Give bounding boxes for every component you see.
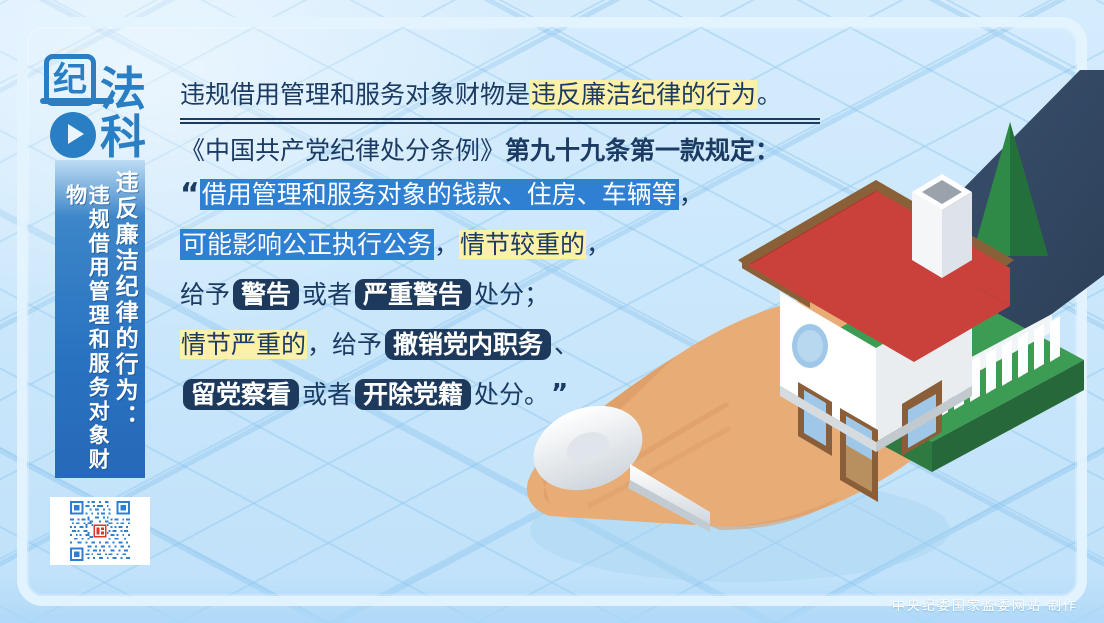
text-line-6: 情节严重的，给予撤销党内职务、 <box>180 329 880 360</box>
text-line-4: 可能影响公正执行公务，情节较重的， <box>180 229 880 260</box>
line4-highlight-blue: 可能影响公正执行公务 <box>180 229 434 260</box>
chimney <box>912 174 972 278</box>
sanction-pill-serious-warning: 严重警告 <box>355 279 471 310</box>
vertical-title-banner: 违反廉洁纪律的行为： 违规借用管理和服务对象财物 <box>55 160 145 478</box>
line2-rest: 第九十九条第一款规定： <box>505 138 780 163</box>
line1-plain-after: 。 <box>757 82 782 107</box>
text-line-3: “借用管理和服务对象的钱款、住房、车辆等， <box>180 179 880 210</box>
text-line-1: 违规借用管理和服务对象财物是违反廉洁纪律的行为。 <box>180 80 880 109</box>
text-line-2: 《中国共产党纪律处分条例》第九十九条第一款规定： <box>180 138 880 163</box>
line4-mid: ， <box>434 232 459 257</box>
sanction-pill-probation: 留党察看 <box>183 379 299 410</box>
credit-text: 中央纪委国家监委网站 制作 <box>892 595 1078 614</box>
logo-char-fa: 法 <box>100 66 146 112</box>
line1-double-underline <box>180 118 820 124</box>
regulation-book-name: 《中国共产党纪律处分条例》 <box>180 138 505 163</box>
line5-post: 处分； <box>474 282 549 307</box>
logo-underbar <box>40 98 114 104</box>
line1-plain-before: 违规借用管理和服务对象财物是 <box>180 82 530 107</box>
logo-char-ke: 科 <box>100 114 146 160</box>
banner-column-sub: 违规借用管理和服务对象财物 <box>64 170 109 478</box>
poster-canvas: 纪 法 科 违反廉洁纪律的行为： 违规借用管理和服务对象财物 <box>0 0 1104 623</box>
line7-mid: 或者 <box>302 382 352 407</box>
banner-column-main: 违反廉洁纪律的行为： <box>111 170 136 478</box>
brand-logo: 纪 法 科 <box>38 52 156 164</box>
quote-close-mark: ” <box>551 387 568 403</box>
line6-mid: ，给予 <box>307 332 382 357</box>
qr-code-image <box>68 499 132 563</box>
line1-highlight-yellow: 违反廉洁纪律的行为 <box>530 80 757 109</box>
line6-highlight-yellow: 情节严重的 <box>180 330 307 359</box>
sanction-pill-warning: 警告 <box>233 279 299 310</box>
quote-open-mark: “ <box>180 186 200 204</box>
line7-post: 处分。 <box>474 382 549 407</box>
line3-highlight-blue: 借用管理和服务对象的钱款、住房、车辆等 <box>200 179 679 210</box>
text-line-5: 给予警告或者严重警告处分； <box>180 279 880 310</box>
qr-code[interactable] <box>50 497 150 565</box>
line3-plain-after: ， <box>679 182 704 207</box>
line4-highlight-yellow: 情节较重的 <box>459 230 586 259</box>
sanction-pill-remove-party-post: 撤销党内职务 <box>385 329 551 360</box>
main-text-block: 违规借用管理和服务对象财物是违反廉洁纪律的行为。 《中国共产党纪律处分条例》第九… <box>180 80 880 429</box>
play-icon <box>68 124 84 144</box>
line6-post: 、 <box>554 332 579 357</box>
line5-mid: 或者 <box>302 282 352 307</box>
line4-plain-after: ， <box>586 232 611 257</box>
text-line-7: 留党察看或者开除党籍处分。” <box>180 379 880 410</box>
qr-center-logo <box>93 524 107 538</box>
sanction-pill-expulsion: 开除党籍 <box>355 379 471 410</box>
line5-pre: 给予 <box>180 282 230 307</box>
